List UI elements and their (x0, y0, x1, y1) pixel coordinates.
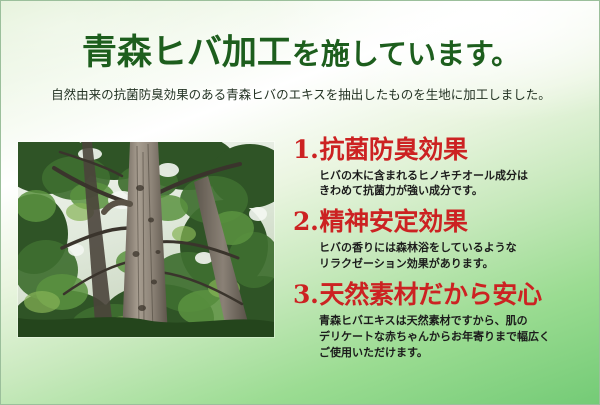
headline-tail-text: を施しています。 (292, 37, 520, 71)
benefit-3-description: 青森ヒバエキスは天然素材ですから、肌の デリケートな赤ちゃんからお年寄りまで幅広… (319, 313, 597, 361)
benefit-1-heading: 1.抗菌防臭効果 (293, 135, 597, 165)
benefit-item-2: 2.精神安定効果 ヒバの香りには森林浴をしているような リラクゼーション効果があ… (293, 207, 597, 271)
benefit-2-title: 精神安定効果 (320, 207, 468, 236)
benefit-2-heading: 2.精神安定効果 (293, 207, 597, 237)
benefit-item-1: 1.抗菌防臭効果 ヒバの木に含まれるヒノキチオール成分は きわめて抗菌力が強い成… (293, 135, 597, 199)
benefit-3-number: 3. (293, 280, 319, 309)
benefit-3-line-2: デリケートな赤ちゃんからお年寄りまで幅広く (319, 329, 597, 345)
benefit-3-line-3: ご使用いただけます。 (319, 345, 597, 361)
benefit-2-line-1: ヒバの香りには森林浴をしているような (319, 240, 597, 256)
promo-banner: 青森ヒバ加工を施しています。 自然由来の抗菌防臭効果のある青森ヒバのエキスを抽出… (0, 0, 600, 405)
forest-photo (18, 142, 274, 337)
page-subtitle: 自然由来の抗菌防臭効果のある青森ヒバのエキスを抽出したものを生地に加工しました。 (1, 87, 600, 103)
benefit-2-number: 2. (293, 207, 319, 236)
page-title: 青森ヒバ加工を施しています。 (1, 35, 600, 72)
benefit-1-title: 抗菌防臭効果 (320, 135, 468, 164)
benefit-item-3: 3.天然素材だから安心 青森ヒバエキスは天然素材ですから、肌の デリケートな赤ち… (293, 280, 597, 361)
benefit-1-line-2: きわめて抗菌力が強い成分です。 (319, 183, 597, 199)
benefit-2-description: ヒバの香りには森林浴をしているような リラクゼーション効果があります。 (319, 240, 597, 272)
forest-photo-illustration (18, 142, 274, 337)
benefit-3-heading: 3.天然素材だから安心 (293, 280, 597, 310)
benefit-1-description: ヒバの木に含まれるヒノキチオール成分は きわめて抗菌力が強い成分です。 (319, 168, 597, 200)
benefit-1-number: 1. (293, 135, 319, 164)
benefit-1-line-1: ヒバの木に含まれるヒノキチオール成分は (319, 168, 597, 184)
benefit-3-line-1: 青森ヒバエキスは天然素材ですから、肌の (319, 313, 597, 329)
benefit-3-title: 天然素材だから安心 (320, 280, 542, 309)
benefit-2-line-2: リラクゼーション効果があります。 (319, 256, 597, 272)
headline-main-text: 青森ヒバ加工 (82, 33, 292, 73)
benefits-list: 1.抗菌防臭効果 ヒバの木に含まれるヒノキチオール成分は きわめて抗菌力が強い成… (293, 135, 597, 369)
